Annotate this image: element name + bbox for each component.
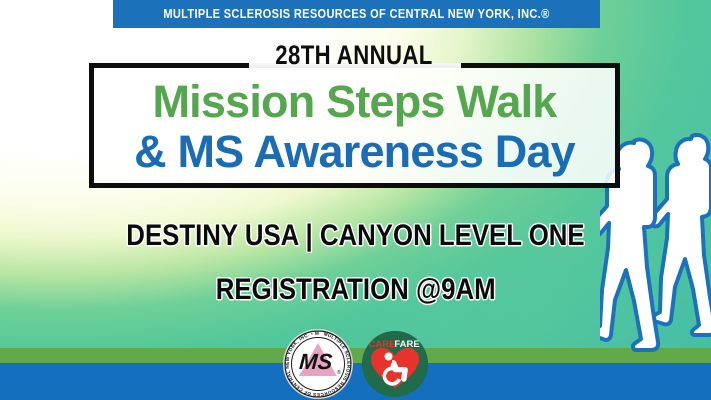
registered-mark: ®: [337, 369, 341, 376]
registration-line: REGISTRATION @9AM: [0, 273, 711, 307]
title-container: Mission Steps Walk & MS Awareness Day: [89, 77, 620, 177]
ms-monogram: MS: [298, 349, 333, 374]
title-line-2: & MS Awareness Day: [89, 127, 620, 177]
organization-name: MULTIPLE SCLEROSIS RESOURCES OF CENTRAL …: [163, 7, 549, 21]
venue-line: DESTINY USA | CANYON LEVEL ONE: [0, 219, 711, 253]
logo-row: MULTIPLE SCLEROSIS RESOURCES OF CENTRAL …: [0, 330, 711, 398]
care-fare-logo: CARE FARE: [362, 331, 428, 397]
svg-text:MS: MS: [298, 349, 333, 374]
registration-text: REGISTRATION @9AM: [216, 273, 496, 307]
eyebrow-label: 28TH ANNUAL: [264, 40, 444, 70]
venue-text: DESTINY USA | CANYON LEVEL ONE: [126, 219, 584, 253]
eyebrow-container: 28TH ANNUAL: [89, 40, 620, 70]
ms-resources-seal-logo: MULTIPLE SCLEROSIS RESOURCES OF CENTRAL …: [284, 330, 352, 398]
title-line-1: Mission Steps Walk: [89, 77, 620, 127]
title-frame: 28TH ANNUAL Mission Steps Walk & MS Awar…: [89, 63, 620, 188]
organization-banner: MULTIPLE SCLEROSIS RESOURCES OF CENTRAL …: [113, 0, 600, 28]
event-poster: MULTIPLE SCLEROSIS RESOURCES OF CENTRAL …: [0, 0, 711, 400]
